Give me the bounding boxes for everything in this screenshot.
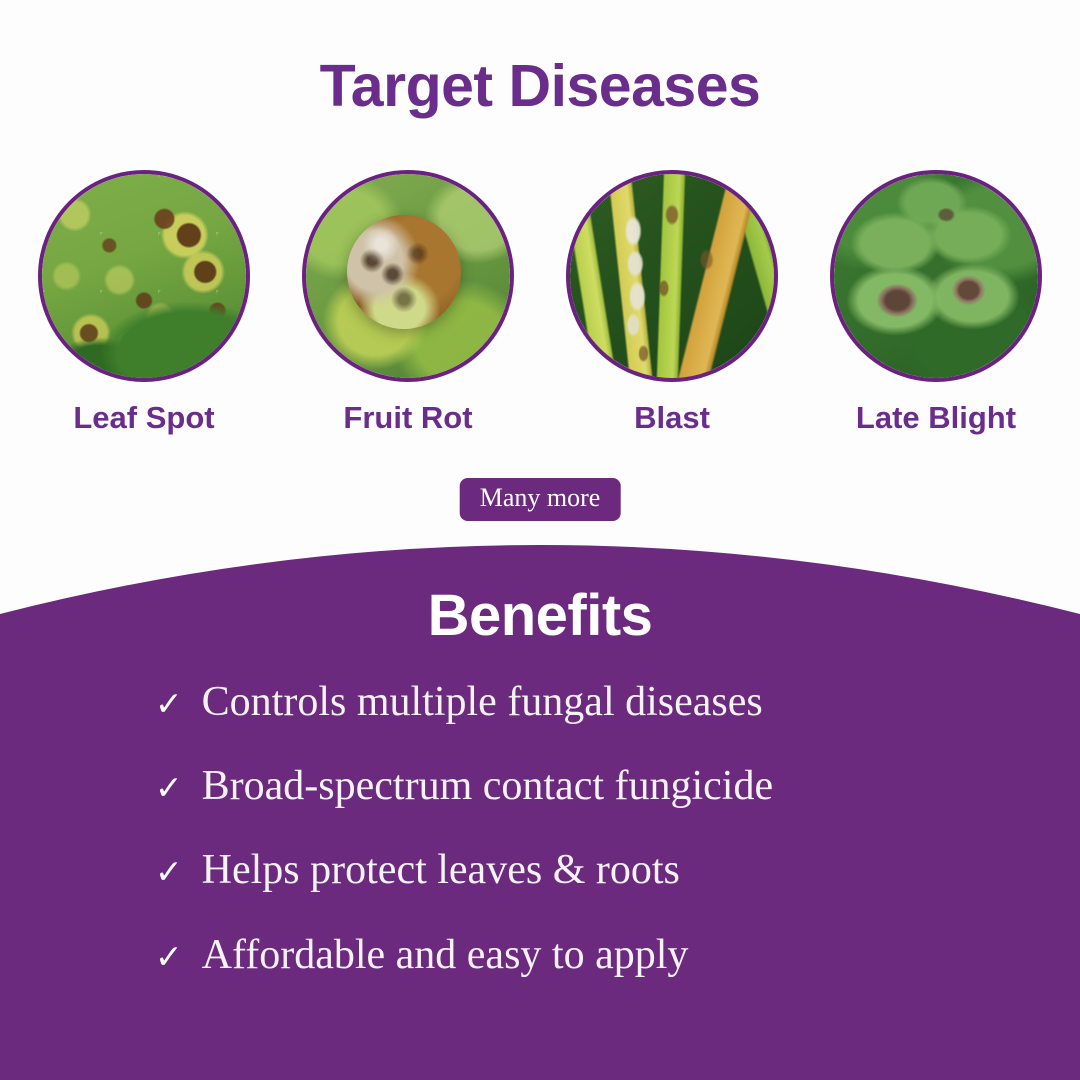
- disease-label: Blast: [634, 400, 710, 436]
- benefit-list-item: ✓ Broad-spectrum contact fungicide: [0, 763, 1080, 809]
- check-icon: ✓: [155, 939, 183, 975]
- page-title: Target Diseases: [0, 52, 1080, 120]
- benefits-list: ✓ Controls multiple fungal diseases ✓ Br…: [0, 679, 1080, 978]
- benefit-text: Broad-spectrum contact fungicide: [202, 763, 773, 809]
- potato-late-blight-leaves-image: [834, 174, 1038, 378]
- disease-item-leaf-spot[interactable]: Leaf Spot: [36, 170, 252, 436]
- disease-label: Leaf Spot: [73, 400, 214, 436]
- rice-blast-lesions-image: [570, 174, 774, 378]
- blast-photo: [566, 170, 778, 382]
- late-blight-photo: [830, 170, 1042, 382]
- benefit-text: Helps protect leaves & roots: [202, 847, 680, 893]
- check-icon: ✓: [155, 770, 183, 806]
- disease-label: Late Blight: [856, 400, 1016, 436]
- leaf-spot-photo: [38, 170, 250, 382]
- check-icon: ✓: [155, 854, 183, 890]
- benefits-title: Benefits: [0, 582, 1080, 649]
- benefit-list-item: ✓ Helps protect leaves & roots: [0, 847, 1080, 893]
- benefit-list-item: ✓ Controls multiple fungal diseases: [0, 679, 1080, 725]
- benefits-section: Benefits ✓ Controls multiple fungal dise…: [0, 582, 1080, 1016]
- fruit-rot-photo: [302, 170, 514, 382]
- disease-item-blast[interactable]: Blast: [564, 170, 780, 436]
- disease-item-late-blight[interactable]: Late Blight: [828, 170, 1044, 436]
- leaf-with-necrotic-spots-image: [42, 174, 246, 378]
- benefit-text: Controls multiple fungal diseases: [202, 679, 763, 725]
- benefit-text: Affordable and easy to apply: [202, 932, 689, 978]
- disease-label: Fruit Rot: [343, 400, 472, 436]
- check-icon: ✓: [155, 686, 183, 722]
- rotting-fruit-image: [306, 174, 510, 378]
- poster-canvas: Target Diseases Leaf Spot Fruit Rot Blas…: [0, 0, 1080, 1080]
- disease-list: Leaf Spot Fruit Rot Blast Late Blight: [0, 170, 1080, 436]
- disease-item-fruit-rot[interactable]: Fruit Rot: [300, 170, 516, 436]
- many-more-badge[interactable]: Many more: [460, 478, 621, 521]
- benefit-list-item: ✓ Affordable and easy to apply: [0, 932, 1080, 978]
